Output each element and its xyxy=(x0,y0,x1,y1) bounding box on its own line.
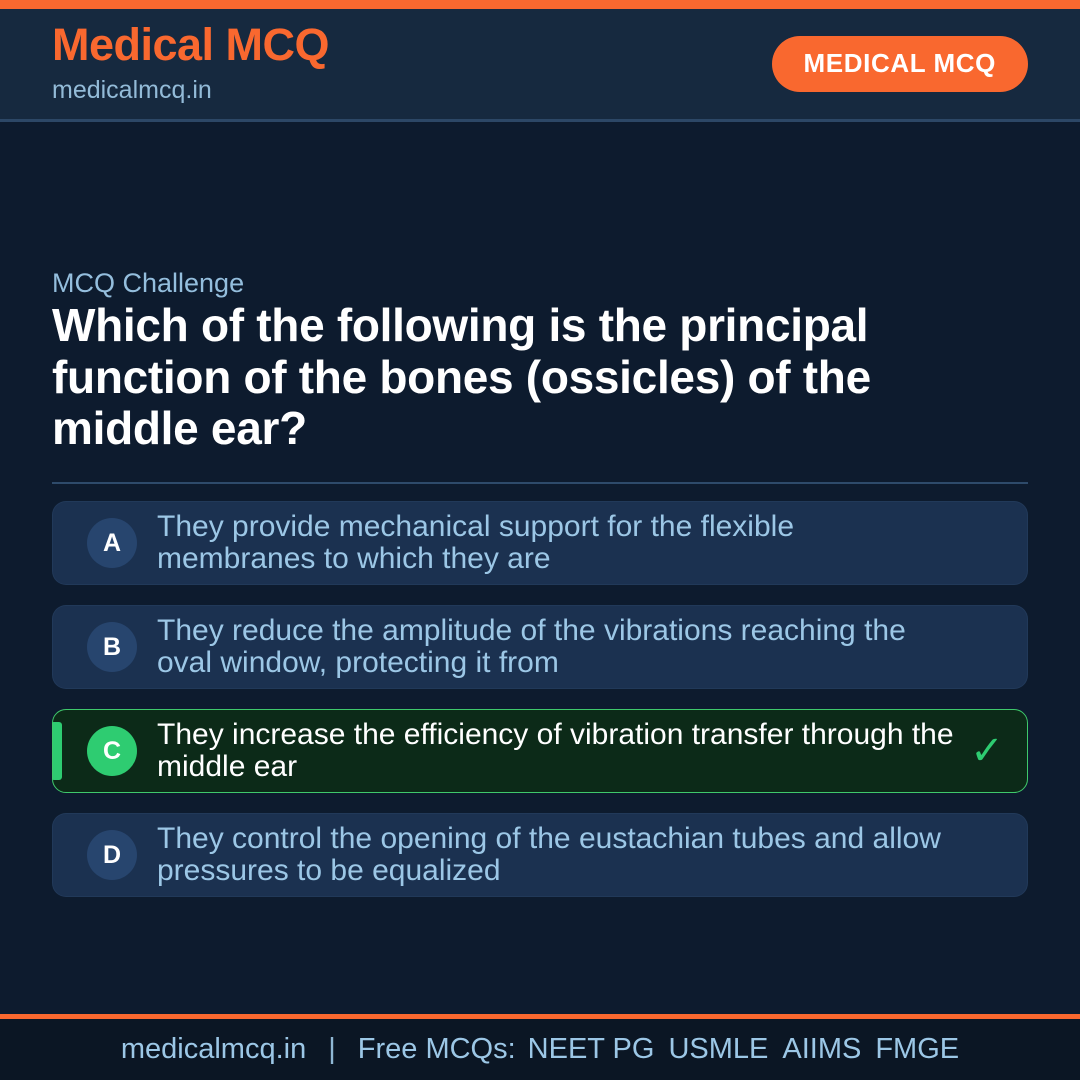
mcq-card: Medical MCQ medicalmcq.in MEDICAL MCQ MC… xyxy=(0,0,1080,1080)
section-divider xyxy=(52,482,1028,484)
main-content: MCQ Challenge Which of the following is … xyxy=(0,122,1080,1014)
top-accent-strip xyxy=(0,0,1080,9)
page-header: Medical MCQ medicalmcq.in MEDICAL MCQ xyxy=(0,9,1080,122)
option-text: They reduce the amplitude of the vibrati… xyxy=(157,615,965,680)
footer-exam-fmge[interactable]: FMGE xyxy=(875,1033,959,1066)
footer-site-link[interactable]: medicalmcq.in xyxy=(121,1033,306,1066)
option-a[interactable]: A They provide mechanical support for th… xyxy=(52,501,1028,585)
options-list: A They provide mechanical support for th… xyxy=(52,501,1028,897)
question-text: Which of the following is the principal … xyxy=(52,300,992,455)
question-label: MCQ Challenge xyxy=(52,268,244,299)
option-c[interactable]: C They increase the efficiency of vibrat… xyxy=(52,709,1028,793)
footer-separator: | xyxy=(328,1033,336,1066)
option-letter-badge: C xyxy=(87,726,137,776)
option-letter-badge: B xyxy=(87,622,137,672)
brand-title: Medical MCQ xyxy=(52,22,329,67)
correct-accent-bar xyxy=(53,722,62,780)
footer-content: medicalmcq.in | Free MCQs: NEET PG USMLE… xyxy=(121,1033,959,1066)
footer-exam-aiims[interactable]: AIIMS xyxy=(782,1033,861,1066)
option-text: They provide mechanical support for the … xyxy=(157,511,965,576)
page-footer: medicalmcq.in | Free MCQs: NEET PG USMLE… xyxy=(0,1014,1080,1080)
option-letter-badge: D xyxy=(87,830,137,880)
option-d[interactable]: D They control the opening of the eustac… xyxy=(52,813,1028,897)
option-text: They control the opening of the eustachi… xyxy=(157,823,965,888)
option-letter-badge: A xyxy=(87,518,137,568)
brand-url: medicalmcq.in xyxy=(52,78,329,103)
header-badge: MEDICAL MCQ xyxy=(772,36,1028,92)
option-text: They increase the efficiency of vibratio… xyxy=(157,719,965,784)
footer-label: Free MCQs: xyxy=(358,1033,516,1066)
option-b[interactable]: B They reduce the amplitude of the vibra… xyxy=(52,605,1028,689)
footer-exam-usmle[interactable]: USMLE xyxy=(668,1033,768,1066)
footer-exam-neet-pg[interactable]: NEET PG xyxy=(528,1033,655,1066)
brand-block: Medical MCQ medicalmcq.in xyxy=(52,22,329,103)
check-icon: ✓ xyxy=(965,731,1009,771)
